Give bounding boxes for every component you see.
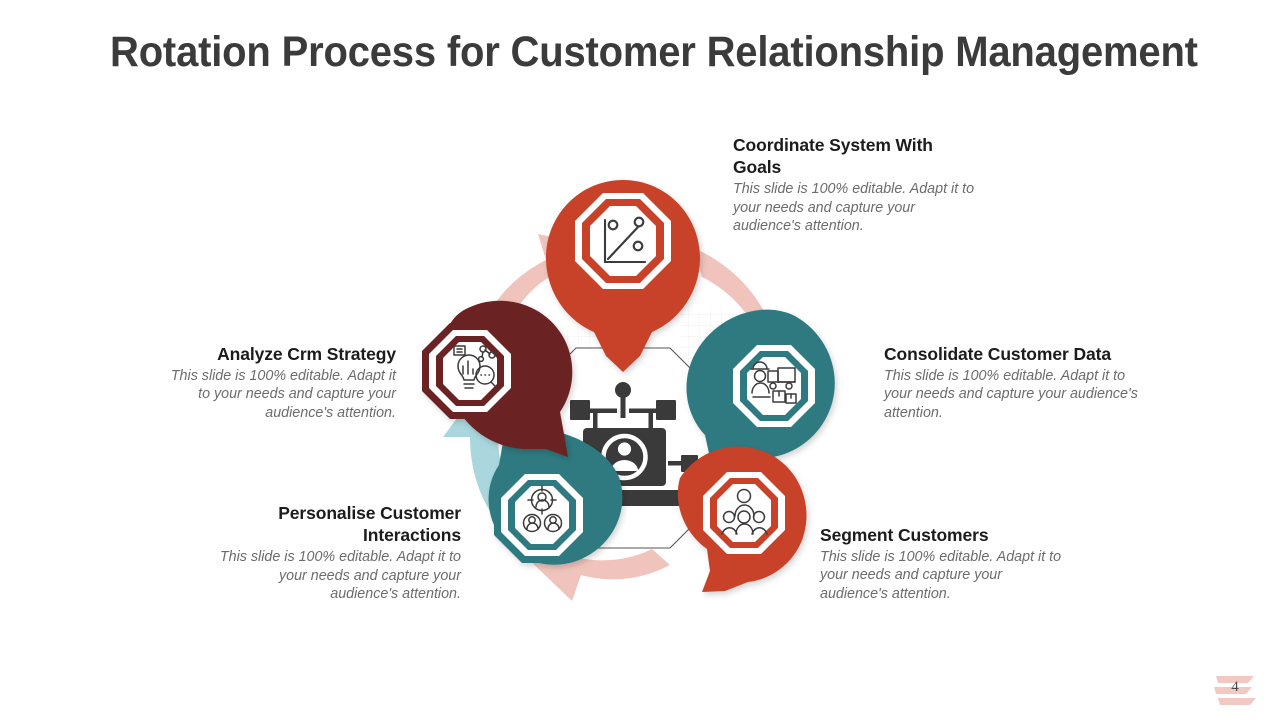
page-number-badge: 4 xyxy=(1208,670,1262,712)
callout-heading: Consolidate Customer Data xyxy=(884,343,1142,365)
callout-analyze-crm-strategy: Analyze Crm Strategy This slide is 100% … xyxy=(160,343,396,422)
callout-body: This slide is 100% editable. Adapt it to… xyxy=(884,367,1142,421)
callout-segment-customers: Segment Customers This slide is 100% edi… xyxy=(820,524,1068,603)
callout-coordinate-system-with-goals: Coordinate System With Goals This slide … xyxy=(733,134,983,235)
callout-body: This slide is 100% editable. Adapt it to… xyxy=(160,367,396,421)
callout-consolidate-customer-data: Consolidate Customer Data This slide is … xyxy=(884,343,1142,422)
callout-heading: Personalise Customer Interactions xyxy=(218,502,461,546)
callout-body: This slide is 100% editable. Adapt it to… xyxy=(218,548,461,602)
callout-heading: Coordinate System With Goals xyxy=(733,134,983,178)
node-segment-customers[interactable] xyxy=(678,447,807,592)
callout-personalise-customer-interactions: Personalise Customer Interactions This s… xyxy=(218,502,461,603)
page-number-text: 4 xyxy=(1208,679,1262,696)
node-analyze-crm-strategy[interactable] xyxy=(422,301,572,457)
callout-body: This slide is 100% editable. Adapt it to… xyxy=(820,548,1068,602)
callout-body: This slide is 100% editable. Adapt it to… xyxy=(733,180,983,234)
rotation-process-diagram: Coordinate System With Goals This slide … xyxy=(0,0,1280,720)
callout-heading: Segment Customers xyxy=(820,524,1068,546)
callout-heading: Analyze Crm Strategy xyxy=(160,343,396,365)
